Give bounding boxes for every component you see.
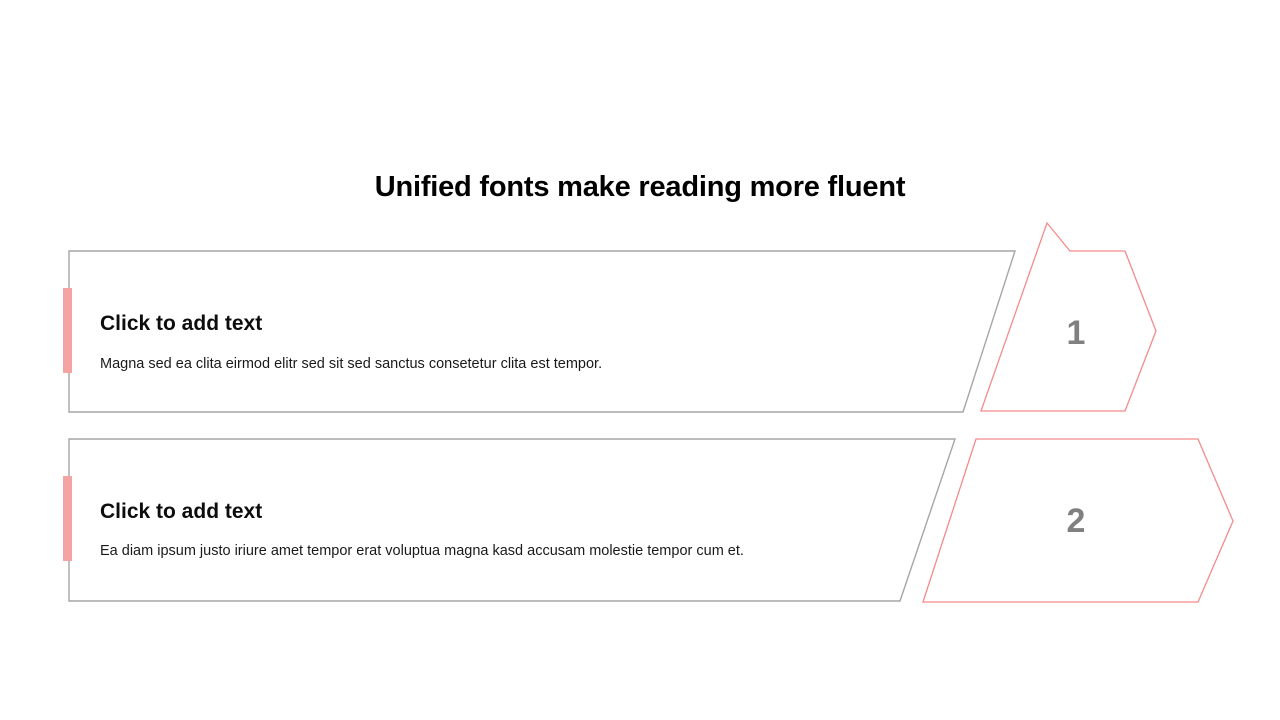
card-2-body: Click to add text Ea diam ipsum justo ir… — [100, 439, 860, 602]
card-1-accent-bar — [63, 288, 72, 373]
text-card-2[interactable]: Click to add text Ea diam ipsum justo ir… — [69, 439, 956, 602]
slide-canvas: Unified fonts make reading more fluent C… — [0, 0, 1280, 720]
card-1-heading[interactable]: Click to add text — [100, 311, 262, 337]
page-title[interactable]: Unified fonts make reading more fluent — [0, 168, 1280, 206]
number-shape-2-label: 2 — [1048, 501, 1104, 541]
card-1-description[interactable]: Magna sed ea clita eirmod elitr sed sit … — [100, 354, 602, 374]
text-card-1[interactable]: Click to add text Magna sed ea clita eir… — [69, 251, 1016, 413]
card-2-accent-bar — [63, 476, 72, 561]
card-2-heading[interactable]: Click to add text — [100, 499, 262, 525]
card-2-description[interactable]: Ea diam ipsum justo iriure amet tempor e… — [100, 541, 744, 561]
card-1-body: Click to add text Magna sed ea clita eir… — [100, 251, 860, 413]
number-shape-1-label: 1 — [1048, 313, 1104, 353]
